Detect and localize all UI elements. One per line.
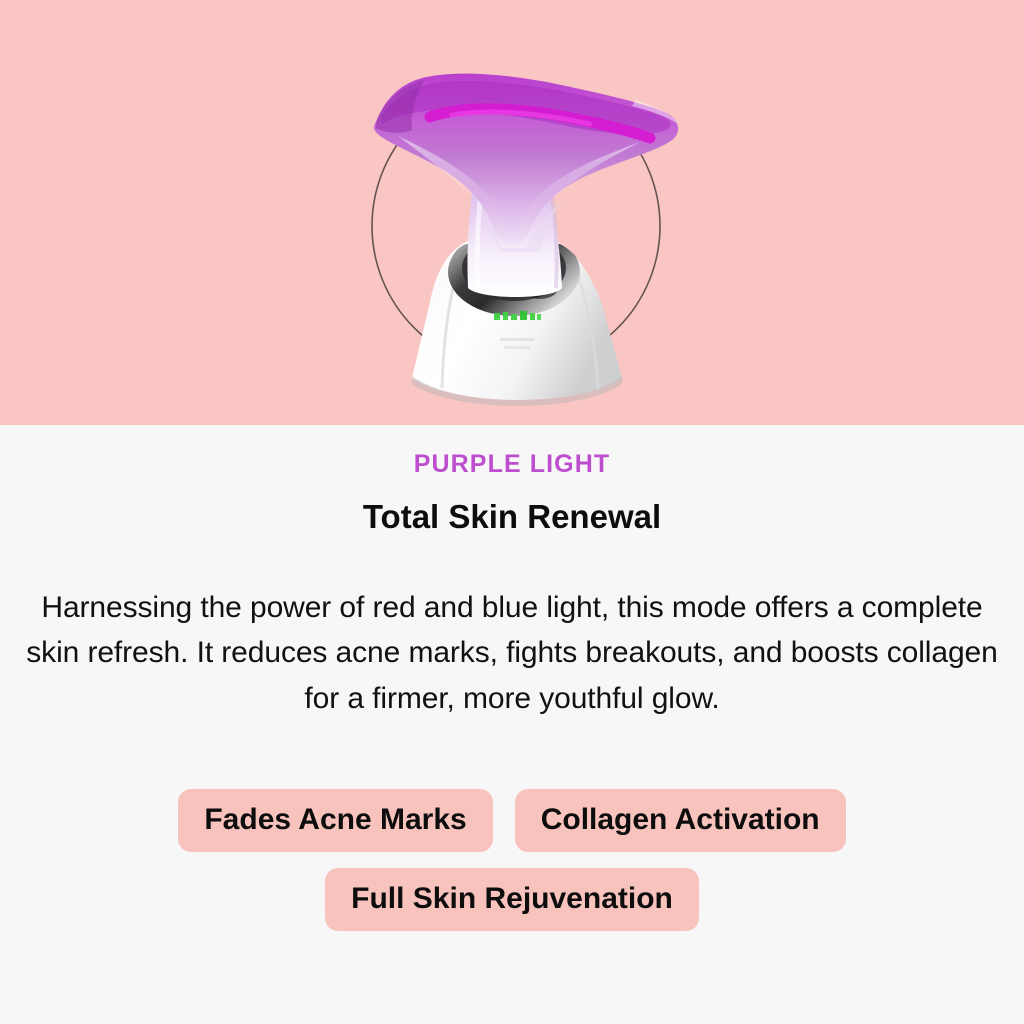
benefit-tag[interactable]: Full Skin Rejuvenation <box>325 868 699 931</box>
content-section: PURPLE LIGHT Total Skin Renewal Harnessi… <box>0 425 1024 1024</box>
product-illustration <box>0 0 1024 425</box>
mode-description: Harnessing the power of red and blue lig… <box>22 585 1002 722</box>
product-hero-image <box>0 0 1024 425</box>
mode-eyebrow-label: PURPLE LIGHT <box>414 452 611 477</box>
benefit-tag[interactable]: Fades Acne Marks <box>178 789 492 852</box>
benefit-tag-list: Fades Acne Marks Collagen Activation Ful… <box>72 789 952 931</box>
product-feature-card: PURPLE LIGHT Total Skin Renewal Harnessi… <box>0 0 1024 1024</box>
page-title: Total Skin Renewal <box>363 499 661 535</box>
benefit-tag[interactable]: Collagen Activation <box>515 789 846 852</box>
